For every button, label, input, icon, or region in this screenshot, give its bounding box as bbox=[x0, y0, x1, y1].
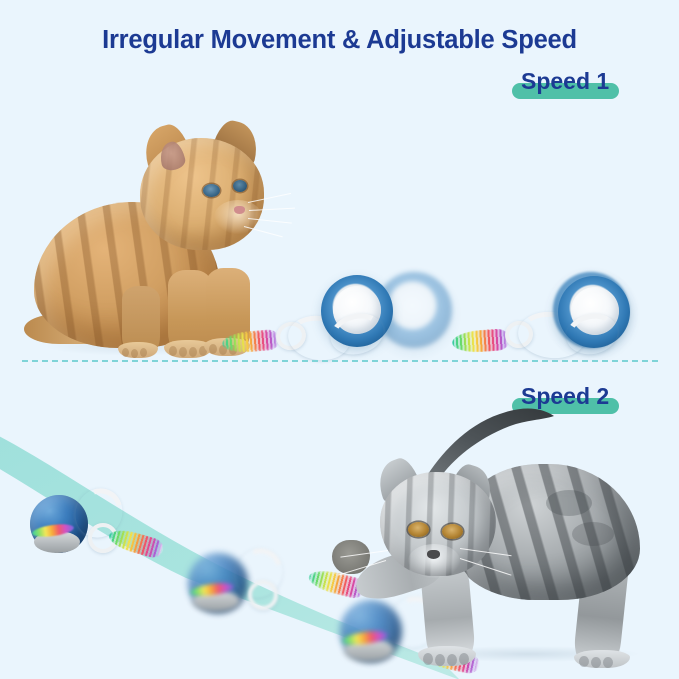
cat-toe bbox=[423, 653, 433, 665]
kitten-nose bbox=[234, 206, 245, 214]
cat-paw-reaching bbox=[332, 540, 370, 574]
cat-stripe bbox=[572, 522, 614, 546]
kitten-head-stripes bbox=[140, 138, 264, 250]
cat-toe bbox=[603, 657, 613, 668]
cat-nose bbox=[427, 550, 440, 559]
toy-tail-loop bbox=[248, 580, 278, 610]
kitten-toe bbox=[140, 348, 147, 357]
product-feature-poster: Irregular Movement & Adjustable Speed Sp… bbox=[0, 0, 679, 679]
cat-toe bbox=[435, 654, 445, 666]
cat-stripe bbox=[546, 490, 592, 516]
kitten-toe bbox=[122, 348, 129, 357]
toy-feather-plume bbox=[451, 328, 510, 354]
kitten-eye-right bbox=[233, 180, 247, 192]
cat-eye-left bbox=[408, 522, 429, 537]
badge-label-speed-1: Speed 1 bbox=[521, 68, 609, 94]
cat-toe bbox=[591, 657, 601, 668]
page-title: Irregular Movement & Adjustable Speed bbox=[0, 26, 679, 55]
cat-toe bbox=[459, 653, 469, 665]
cat-eye-right bbox=[442, 524, 463, 539]
cat-toe bbox=[447, 654, 457, 666]
kitten-toe bbox=[209, 344, 217, 354]
status-badge-speed-1: Speed 1 bbox=[521, 70, 609, 93]
silver-tabby-cat-photo bbox=[328, 398, 678, 660]
kitten-toe bbox=[131, 349, 138, 358]
ginger-kitten-photo bbox=[18, 118, 286, 356]
section-divider bbox=[22, 360, 658, 362]
badge-label-speed-2: Speed 2 bbox=[521, 383, 609, 409]
kitten-toe bbox=[179, 347, 187, 357]
kitten-toe bbox=[169, 346, 177, 356]
cat-toe bbox=[579, 656, 589, 667]
kitten-eye-left bbox=[203, 184, 220, 197]
status-badge-speed-2: Speed 2 bbox=[521, 385, 609, 408]
kitten-toe bbox=[189, 347, 197, 357]
